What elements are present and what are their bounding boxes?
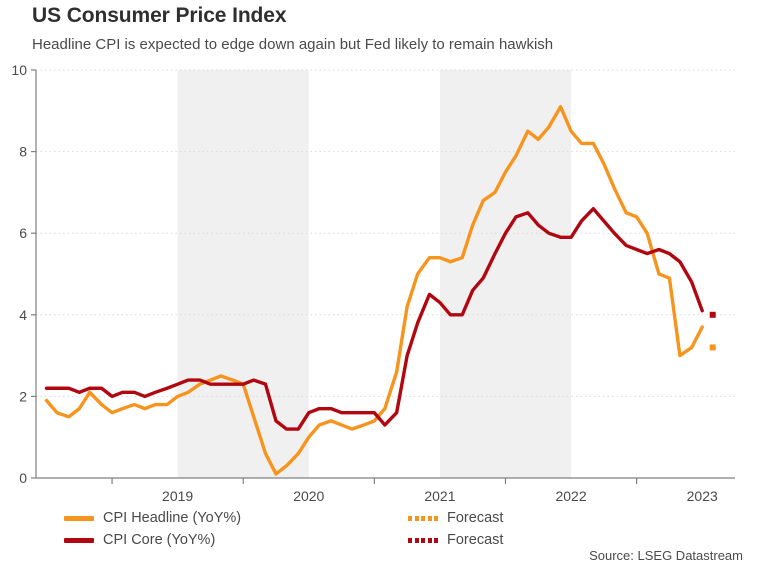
- chart-legend: CPI Headline (YoY%) CPI Core (YoY%) Fore…: [0, 508, 757, 552]
- y-tick-label: 0: [19, 470, 27, 486]
- x-tick-label: 2021: [424, 488, 455, 504]
- legend-swatch-forecast-headline: [408, 516, 438, 521]
- y-axis-ticks: 0246810: [11, 62, 36, 486]
- legend-swatch-headline: [64, 516, 94, 521]
- legend-label-core: CPI Core (YoY%): [103, 533, 215, 548]
- x-tick-label: 2023: [687, 488, 718, 504]
- legend-item-headline: CPI Headline (YoY%): [64, 508, 241, 528]
- axes: [36, 70, 735, 478]
- forecast-marker: [710, 344, 716, 350]
- cpi-chart: US Consumer Price Index Headline CPI is …: [0, 0, 757, 568]
- shaded-band: [440, 70, 571, 478]
- legend-item-forecast-headline: Forecast: [408, 508, 503, 528]
- legend-item-forecast-core: Forecast: [408, 530, 503, 550]
- x-tick-label: 2019: [162, 488, 193, 504]
- source-note: Source: LSEG Datastream: [589, 548, 743, 563]
- series-line: [46, 107, 702, 474]
- y-tick-label: 2: [19, 388, 27, 404]
- gridlines: [36, 70, 735, 396]
- shaded-band: [178, 70, 309, 478]
- legend-swatch-core: [64, 538, 94, 543]
- y-tick-label: 10: [11, 62, 27, 78]
- plot-area: 0246810 20192020202120222023: [0, 0, 757, 505]
- x-axis-ticks: 20192020202120222023: [112, 478, 757, 504]
- data-series: [46, 107, 702, 474]
- legend-label-forecast-core: Forecast: [447, 533, 503, 548]
- y-tick-label: 8: [19, 144, 27, 160]
- y-tick-label: 6: [19, 225, 27, 241]
- legend-item-core: CPI Core (YoY%): [64, 530, 241, 550]
- legend-label-headline: CPI Headline (YoY%): [103, 511, 241, 526]
- forecast-marker: [710, 312, 716, 318]
- legend-swatch-forecast-core: [408, 538, 438, 543]
- y-tick-label: 4: [19, 307, 27, 323]
- forecast-markers: [710, 312, 716, 351]
- x-tick-label: 2022: [555, 488, 586, 504]
- x-tick-label: 2020: [293, 488, 324, 504]
- legend-label-forecast-headline: Forecast: [447, 511, 503, 526]
- recession-bands: [178, 70, 571, 478]
